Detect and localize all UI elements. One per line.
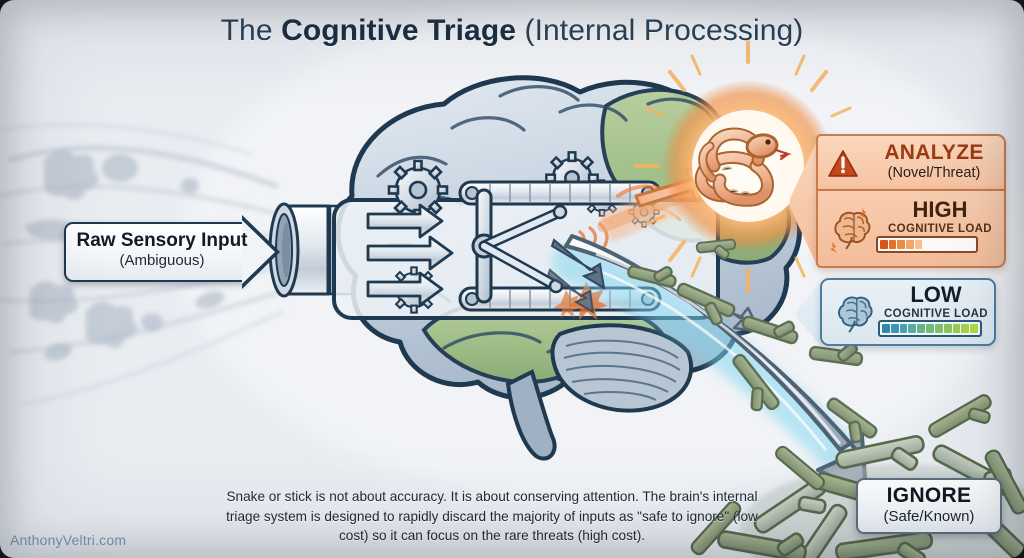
title-prefix: The — [221, 14, 281, 47]
load-segment — [970, 324, 978, 333]
low-load-caption: COGNITIVE LOAD — [878, 307, 994, 321]
load-segment — [906, 240, 914, 249]
load-segment — [889, 240, 897, 249]
page-title: The Cognitive Triage (Internal Processin… — [0, 14, 1024, 48]
load-segment — [949, 240, 957, 249]
low-load-level: LOW — [878, 282, 994, 307]
ignore-sublabel: (Safe/Known) — [856, 508, 1002, 526]
analyze-badge-header: ANALYZE (Novel/Threat) — [816, 134, 1006, 190]
brain-icon-calm — [830, 290, 876, 336]
warning-triangle-icon — [828, 149, 858, 178]
analyze-label: ANALYZE — [864, 140, 1004, 165]
analyze-load-level: HIGH — [876, 197, 1004, 222]
low-cognitive-load-badge[interactable]: LOW COGNITIVE LOAD — [820, 278, 996, 346]
raw-sensory-input-label: Raw Sensory Input — [64, 230, 260, 252]
load-segment — [944, 324, 952, 333]
load-segment — [935, 324, 943, 333]
low-load-meter — [878, 320, 982, 337]
callout-text: Raw Sensory Input (Ambiguous) — [64, 230, 260, 270]
load-segment — [961, 324, 969, 333]
title-suffix: (Internal Processing) — [516, 14, 803, 47]
analyze-load-meter — [876, 236, 978, 253]
ignore-label: IGNORE — [856, 483, 1002, 508]
load-segment — [891, 324, 899, 333]
analyze-badge[interactable]: ANALYZE (Novel/Threat) — [816, 134, 1006, 268]
load-segment — [932, 240, 940, 249]
analyze-badge-pennant-notch — [790, 134, 818, 268]
ignore-badge[interactable]: IGNORE (Safe/Known) — [856, 478, 1002, 534]
load-segment — [940, 240, 948, 249]
load-segment — [966, 240, 974, 249]
load-segment — [882, 324, 890, 333]
load-segment — [953, 324, 961, 333]
brain-icon-strained — [826, 205, 874, 253]
watermark: AnthonyVeltri.com — [10, 532, 126, 548]
load-segment — [915, 240, 923, 249]
analyze-cognitive-load: HIGH COGNITIVE LOAD — [816, 190, 1006, 268]
infographic-canvas: The Cognitive Triage (Internal Processin… — [0, 0, 1024, 558]
load-segment — [880, 240, 888, 249]
title-emphasis: Cognitive Triage — [281, 14, 516, 47]
analyze-sublabel: (Novel/Threat) — [864, 165, 1004, 182]
low-badge-pennant-notch — [796, 278, 822, 346]
raw-sensory-input-sublabel: (Ambiguous) — [64, 252, 260, 270]
load-segment — [900, 324, 908, 333]
analyze-labels: ANALYZE (Novel/Threat) — [864, 140, 1004, 182]
low-load-labels: LOW COGNITIVE LOAD — [878, 282, 994, 321]
ignore-labels: IGNORE (Safe/Known) — [856, 483, 1002, 526]
caption-text: Snake or stick is not about accuracy. It… — [222, 487, 762, 546]
input-arrows — [368, 205, 452, 305]
load-segment — [926, 324, 934, 333]
load-segment — [923, 240, 931, 249]
analyze-load-labels: HIGH COGNITIVE LOAD — [876, 197, 1004, 236]
load-segment — [897, 240, 905, 249]
analyze-load-caption: COGNITIVE LOAD — [876, 222, 1004, 236]
load-segment — [917, 324, 925, 333]
raw-sensory-input-callout: Raw Sensory Input (Ambiguous) — [64, 222, 276, 282]
load-segment — [958, 240, 966, 249]
load-segment — [908, 324, 916, 333]
